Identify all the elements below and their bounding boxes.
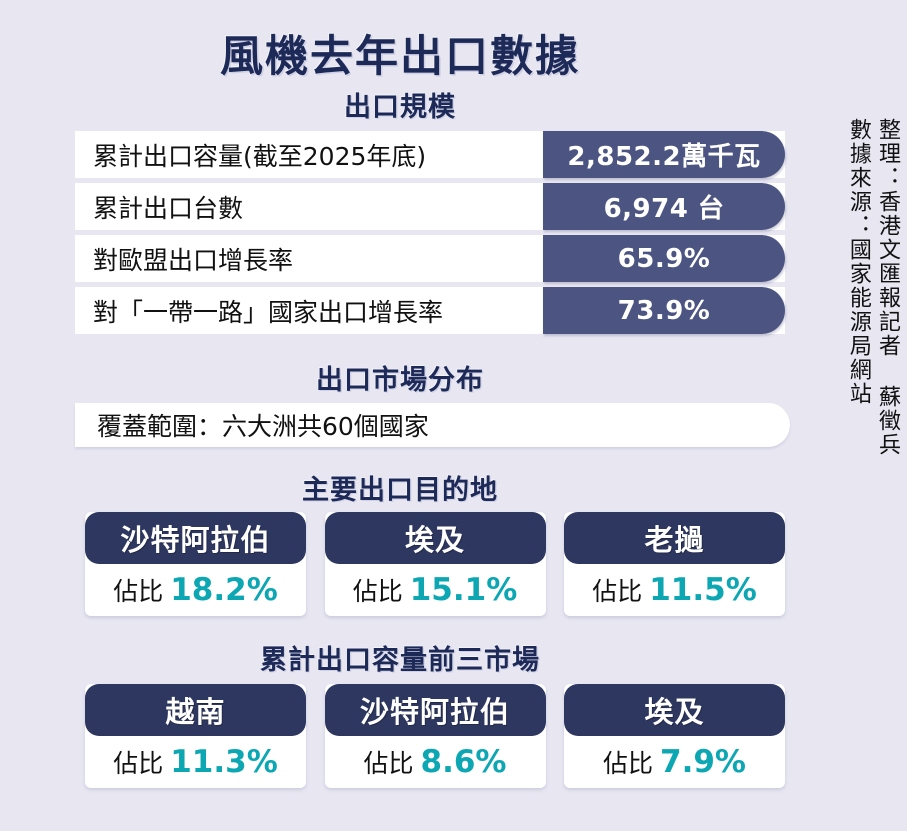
coverage-text: 覆蓋範圍：六大洲共60個國家: [75, 407, 429, 443]
stat-row: 對「一帶一路」國家出口增長率 73.9%: [75, 287, 785, 334]
share-label: 佔比: [113, 572, 163, 608]
destination-name: 老撾: [564, 512, 785, 564]
destination-name: 埃及: [325, 512, 546, 564]
stat-label: 累計出口容量(截至2025年底): [75, 137, 426, 173]
credits-column: 數據來源：國家能源局網站 整理：香港文匯報記者 蘇徵兵: [837, 118, 899, 638]
stat-value-pill: 73.9%: [543, 287, 785, 334]
top3-share: 佔比 11.3%: [85, 736, 306, 788]
share-value: 11.3%: [170, 744, 278, 780]
destination-name: 沙特阿拉伯: [85, 512, 306, 564]
credit-compiler: 整理：香港文匯報記者 蘇徵兵: [876, 118, 899, 457]
destination-share: 佔比 15.1%: [325, 564, 546, 616]
stat-row: 對歐盟出口增長率 65.9%: [75, 235, 785, 282]
stat-label: 累計出口台數: [75, 189, 243, 225]
section-heading-top3: 累計出口容量前三市場: [0, 638, 800, 677]
section-heading-destinations: 主要出口目的地: [0, 468, 800, 507]
top3-card: 沙特阿拉伯 佔比 8.6%: [325, 684, 546, 788]
stat-value-pill: 2,852.2萬千瓦: [543, 131, 785, 178]
stat-row: 累計出口台數 6,974 台: [75, 183, 785, 230]
top3-name: 埃及: [564, 684, 785, 736]
top3-card: 越南 佔比 11.3%: [85, 684, 306, 788]
main-column: 風機去年出口數據 出口規模 累計出口容量(截至2025年底) 2,852.2萬千…: [0, 0, 800, 831]
section-heading-scale: 出口規模: [0, 85, 800, 124]
section-heading-market: 出口市場分布: [0, 358, 800, 397]
infographic-root: 風機去年出口數據 出口規模 累計出口容量(截至2025年底) 2,852.2萬千…: [0, 0, 907, 831]
share-value: 7.9%: [660, 744, 746, 780]
stat-label: 對「一帶一路」國家出口增長率: [75, 293, 443, 329]
top3-name: 沙特阿拉伯: [325, 684, 546, 736]
share-label: 佔比: [364, 744, 414, 780]
share-label: 佔比: [113, 744, 163, 780]
share-value: 15.1%: [410, 572, 518, 608]
destination-share: 佔比 18.2%: [85, 564, 306, 616]
credit-data-source: 數據來源：國家能源局網站: [847, 118, 870, 406]
top3-card-row: 越南 佔比 11.3% 沙特阿拉伯 佔比 8.6% 埃及 佔比 7.9%: [85, 684, 785, 788]
page-title: 風機去年出口數據: [0, 22, 800, 84]
stat-value-pill: 65.9%: [543, 235, 785, 282]
top3-share: 佔比 8.6%: [325, 736, 546, 788]
share-value: 18.2%: [170, 572, 278, 608]
stat-value-pill: 6,974 台: [543, 183, 785, 230]
stat-row: 累計出口容量(截至2025年底) 2,852.2萬千瓦: [75, 131, 785, 178]
share-label: 佔比: [353, 572, 403, 608]
stat-label: 對歐盟出口增長率: [75, 241, 293, 277]
top3-card: 埃及 佔比 7.9%: [564, 684, 785, 788]
top3-name: 越南: [85, 684, 306, 736]
destination-card: 埃及 佔比 15.1%: [325, 512, 546, 616]
top3-share: 佔比 7.9%: [564, 736, 785, 788]
share-label: 佔比: [603, 744, 653, 780]
destination-card: 老撾 佔比 11.5%: [564, 512, 785, 616]
coverage-bar: 覆蓋範圍：六大洲共60個國家: [75, 403, 790, 447]
destination-share: 佔比 11.5%: [564, 564, 785, 616]
destination-card-row: 沙特阿拉伯 佔比 18.2% 埃及 佔比 15.1% 老撾 佔比 11.5%: [85, 512, 785, 616]
share-value: 8.6%: [421, 744, 507, 780]
share-value: 11.5%: [649, 572, 757, 608]
destination-card: 沙特阿拉伯 佔比 18.2%: [85, 512, 306, 616]
share-label: 佔比: [592, 572, 642, 608]
stat-rows-list: 累計出口容量(截至2025年底) 2,852.2萬千瓦 累計出口台數 6,974…: [75, 131, 785, 339]
